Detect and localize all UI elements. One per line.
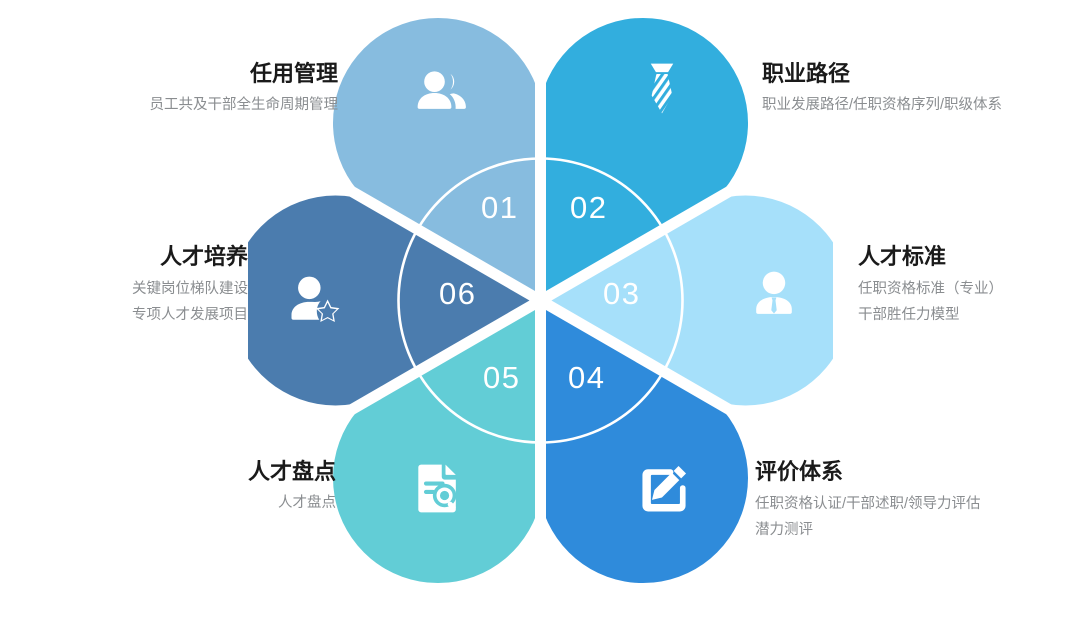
label-subtitle-04-1: 潜力测评 (755, 517, 1081, 544)
label-title-02: 职业路径 (762, 60, 1081, 88)
label-block-06[interactable]: 人才培养 关键岗位梯队建设 专项人才发展项目 (0, 243, 248, 329)
label-title-05: 人才盘点 (0, 458, 336, 486)
label-subtitle-04-0: 任职资格认证/干部述职/领导力评估 (755, 491, 1081, 518)
label-subtitle-01-0: 员工共及干部全生命周期管理 (0, 92, 338, 119)
label-subtitle-06-0: 关键岗位梯队建设 (0, 276, 248, 303)
label-block-04[interactable]: 评价体系 任职资格认证/干部述职/领导力评估 潜力测评 (755, 458, 1081, 544)
label-subtitle-05-0: 人才盘点 (0, 490, 336, 517)
label-block-01[interactable]: 任用管理 员工共及干部全生命周期管理 (0, 60, 338, 118)
label-title-06: 人才培养 (0, 243, 248, 271)
label-title-03: 人才标准 (858, 243, 1081, 271)
label-subtitle-06-1: 专项人才发展项目 (0, 302, 248, 329)
diagram-canvas: 01 02 03 04 05 06 任用管理 员工共及干部全生命周期管理 人才培… (0, 0, 1081, 626)
label-block-05[interactable]: 人才盘点 人才盘点 (0, 458, 336, 516)
label-title-01: 任用管理 (0, 60, 338, 88)
label-subtitle-03-1: 干部胜任力模型 (858, 302, 1081, 329)
label-subtitle-02-0: 职业发展路径/任职资格序列/职级体系 (762, 92, 1081, 119)
label-title-04: 评价体系 (755, 458, 1081, 486)
label-block-02[interactable]: 职业路径 职业发展路径/任职资格序列/职级体系 (762, 60, 1081, 118)
label-block-03[interactable]: 人才标准 任职资格标准（专业） 干部胜任力模型 (858, 243, 1081, 329)
label-subtitle-03-0: 任职资格标准（专业） (858, 276, 1081, 303)
